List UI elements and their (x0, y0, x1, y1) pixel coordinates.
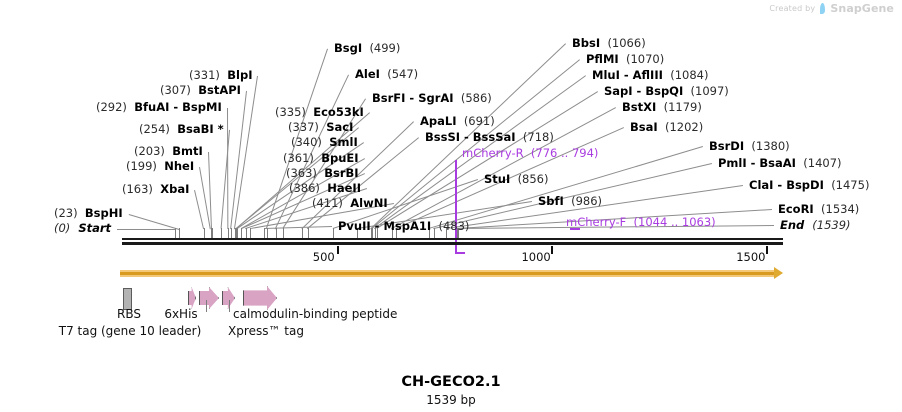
restriction-site-label[interactable]: End (1539) (780, 220, 851, 232)
restriction-site-position: (307) (160, 83, 191, 97)
restriction-site-label[interactable]: SbfI (986) (538, 196, 602, 208)
watermark-brand-label: SnapGene (830, 2, 894, 15)
snapgene-leaf-icon (818, 3, 827, 15)
ruler-tick (551, 246, 553, 254)
feature-leader-line (206, 300, 207, 312)
primer-name: mCherry-R (462, 146, 524, 160)
restriction-site-name: BsrFI - SgrAI (372, 91, 454, 105)
feature-label[interactable]: calmodulin-binding peptide (233, 307, 397, 321)
restriction-site-label[interactable]: StuI (856) (484, 174, 549, 186)
restriction-site-tick (276, 228, 277, 238)
ruler-tick-label: 1500 (736, 250, 764, 264)
restriction-site-name: StuI (484, 172, 510, 186)
restriction-site-label[interactable]: (337) SacI (288, 122, 353, 134)
restriction-site-label[interactable]: (307) BstAPI (160, 85, 241, 97)
restriction-site-name: BstXI (622, 100, 656, 114)
restriction-site-label[interactable]: ClaI - BspDI (1475) (749, 180, 869, 192)
restriction-site-tick (221, 228, 222, 238)
page-title: CH-GECO2.1 (0, 374, 902, 390)
restriction-site-name: BpuEI (321, 151, 358, 165)
restriction-site-name: SbfI (538, 194, 564, 208)
restriction-site-name: BmtI (172, 144, 203, 158)
snapgene-watermark: Created by SnapGene (769, 2, 894, 15)
restriction-site-position: (1202) (665, 120, 703, 134)
restriction-site-label[interactable]: AleI (547) (355, 69, 418, 81)
restriction-site-tick (212, 228, 213, 238)
restriction-site-name: BsrDI (709, 139, 744, 153)
ruler-tick (766, 246, 768, 254)
restriction-site-name: SapI - BspQI (604, 84, 683, 98)
restriction-site-label[interactable]: BstXI (1179) (622, 102, 702, 114)
restriction-site-position: (718) (523, 130, 554, 144)
label-leader-line (117, 229, 175, 230)
ruler-tick (337, 246, 339, 254)
restriction-site-label[interactable]: PvuII - MspA1I (483) (338, 221, 469, 233)
restriction-site-name: Start (78, 221, 111, 235)
restriction-site-name: BspHI (85, 206, 123, 220)
restriction-site-label[interactable]: PflMI (1070) (586, 54, 664, 66)
restriction-site-tick (246, 228, 247, 238)
restriction-site-name: BbsI (572, 36, 600, 50)
restriction-site-label[interactable]: (361) BpuEI (283, 153, 359, 165)
restriction-site-tick (204, 228, 205, 238)
feature-leader-line (229, 300, 230, 312)
restriction-site-label[interactable]: ApaLI (691) (420, 116, 495, 128)
restriction-site-position: (335) (275, 105, 306, 119)
restriction-site-label[interactable]: (203) BmtI (134, 146, 203, 158)
restriction-site-position: (586) (461, 91, 492, 105)
restriction-site-label[interactable]: (199) NheI (126, 161, 194, 173)
label-leader-line (227, 108, 228, 229)
sequence-backbone-line (122, 238, 783, 240)
restriction-site-tick (333, 228, 334, 238)
restriction-site-position: (483) (438, 219, 469, 233)
snapgene-sequence-map (0, 0, 902, 412)
restriction-site-name: PvuII - MspA1I (338, 219, 431, 233)
restriction-site-name: PflMI (586, 52, 619, 66)
restriction-site-name: ClaI - BspDI (749, 178, 824, 192)
restriction-site-position: (1070) (626, 52, 664, 66)
restriction-site-position: (1084) (670, 68, 708, 82)
restriction-site-label[interactable]: EcoRI (1534) (778, 204, 859, 216)
ruler-tick-label: 500 (307, 250, 335, 264)
restriction-site-label[interactable]: (254) BsaBI * (139, 124, 224, 136)
restriction-site-position: (691) (464, 114, 495, 128)
restriction-site-tick (179, 228, 180, 238)
restriction-site-position: (1066) (607, 36, 645, 50)
restriction-site-position: (411) (312, 196, 343, 210)
restriction-site-tick (302, 228, 303, 238)
restriction-site-name: Eco53kI (313, 105, 364, 119)
restriction-site-label[interactable]: (331) BlpI (189, 70, 252, 82)
restriction-site-label[interactable]: (363) BsrBI (286, 168, 359, 180)
restriction-site-label[interactable]: BsgI (499) (334, 43, 400, 55)
primer-label[interactable]: mCherry-R (776 .. 794) (462, 148, 598, 160)
restriction-site-name: BsgI (334, 41, 362, 55)
restriction-site-position: (292) (96, 100, 127, 114)
restriction-site-position: (1475) (831, 178, 869, 192)
restriction-site-name: AleI (355, 67, 380, 81)
restriction-site-name: BlpI (227, 68, 252, 82)
restriction-site-name: HaeII (327, 181, 361, 195)
restriction-site-name: MluI - AflIII (592, 68, 663, 82)
restriction-site-name: EcoRI (778, 202, 814, 216)
restriction-site-position: (254) (139, 122, 170, 136)
primer-name: mCherry-F (566, 215, 626, 229)
restriction-site-position: (1097) (691, 84, 729, 98)
restriction-site-name: SmlI (329, 135, 358, 149)
restriction-site-name: End (780, 218, 804, 232)
restriction-site-name: BssSI - BssSaI (425, 130, 516, 144)
restriction-site-name: BstAPI (198, 83, 241, 97)
length-label: 1539 bp (0, 393, 902, 407)
restriction-site-label[interactable]: SapI - BspQI (1097) (604, 86, 729, 98)
restriction-site-label[interactable]: (335) Eco53kI (275, 107, 364, 119)
primer-label[interactable]: mCherry-F (1044 .. 1063) (566, 217, 716, 229)
restriction-site-position: (163) (122, 182, 153, 196)
orf-arrow[interactable] (120, 268, 785, 280)
restriction-site-name: SacI (326, 120, 353, 134)
restriction-site-position: (1534) (821, 202, 859, 216)
restriction-site-position: (199) (126, 159, 157, 173)
restriction-site-position: (331) (189, 68, 220, 82)
restriction-site-label[interactable]: BssSI - BssSaI (718) (425, 132, 554, 144)
primer-range: (1044 .. 1063) (634, 215, 716, 229)
restriction-site-label[interactable]: BsrFI - SgrAI (586) (372, 93, 492, 105)
restriction-site-position: (986) (571, 194, 602, 208)
restriction-site-position: (856) (518, 172, 549, 186)
restriction-site-label[interactable]: BsaI (1202) (630, 122, 703, 134)
restriction-site-name: BsaI (630, 120, 658, 134)
restriction-site-name: BsrBI (324, 166, 358, 180)
restriction-site-tick (250, 228, 251, 238)
restriction-site-tick (283, 228, 284, 238)
orf-arrow-body (120, 270, 775, 277)
restriction-site-name: AlwNI (350, 196, 387, 210)
restriction-site-label[interactable]: (386) HaeII (289, 183, 361, 195)
primer-range: (776 .. 794) (531, 146, 599, 160)
restriction-site-name: XbaI (160, 182, 189, 196)
restriction-site-label[interactable]: BsrDI (1380) (709, 141, 790, 153)
restriction-site-tick (228, 228, 229, 238)
restriction-site-label[interactable]: (340) SmlI (291, 137, 358, 149)
feature-label[interactable]: RBS (117, 307, 141, 321)
restriction-site-label[interactable]: MluI - AflIII (1084) (592, 70, 708, 82)
restriction-site-name: BfuAI - BspMI (134, 100, 221, 114)
restriction-site-label[interactable]: (411) AlwNI (312, 198, 388, 210)
restriction-site-tick (231, 228, 232, 238)
restriction-site-position: (23) (54, 206, 78, 220)
restriction-site-position: (547) (387, 67, 418, 81)
restriction-site-position: (337) (288, 120, 319, 134)
restriction-site-tick (264, 228, 265, 238)
restriction-site-tick (308, 228, 309, 238)
restriction-site-name: BsaBI * (177, 122, 223, 136)
sequence-backbone-line (122, 242, 783, 245)
feature-label[interactable]: Xpress™ tag (228, 324, 304, 338)
restriction-site-tick (237, 228, 238, 238)
restriction-site-position: (203) (134, 144, 165, 158)
restriction-site-label[interactable]: (163) XbaI (122, 184, 189, 196)
restriction-site-label[interactable]: (23) BspHI (54, 208, 123, 220)
ruler-tick-label: 1000 (521, 250, 549, 264)
feature-label[interactable]: T7 tag (gene 10 leader) (59, 324, 202, 338)
restriction-site-position: (340) (291, 135, 322, 149)
restriction-site-position: (363) (286, 166, 317, 180)
restriction-site-position: (361) (283, 151, 314, 165)
restriction-site-name: ApaLI (420, 114, 457, 128)
orf-arrow-head (774, 267, 783, 279)
restriction-site-name: NheI (164, 159, 194, 173)
feature-label[interactable]: 6xHis (164, 307, 197, 321)
restriction-site-position: (1407) (803, 156, 841, 170)
restriction-site-tick (175, 228, 176, 238)
primer-bracket (455, 252, 465, 254)
restriction-site-tick (241, 228, 242, 238)
restriction-site-label[interactable]: (292) BfuAI - BspMI (96, 102, 222, 114)
restriction-site-position: (1539) (812, 218, 850, 232)
restriction-site-position: (386) (289, 181, 320, 195)
restriction-site-position: (1179) (664, 100, 702, 114)
watermark-created-by-label: Created by (769, 4, 815, 13)
restriction-site-position: (1380) (751, 139, 789, 153)
restriction-site-label[interactable]: (0) Start (54, 223, 111, 235)
restriction-site-label[interactable]: BbsI (1066) (572, 38, 646, 50)
restriction-site-name: PmlI - BsaAI (718, 156, 796, 170)
restriction-site-tick (267, 228, 268, 238)
restriction-site-label[interactable]: PmlI - BsaAI (1407) (718, 158, 842, 170)
restriction-site-position: (499) (369, 41, 400, 55)
restriction-site-position: (0) (54, 221, 70, 235)
